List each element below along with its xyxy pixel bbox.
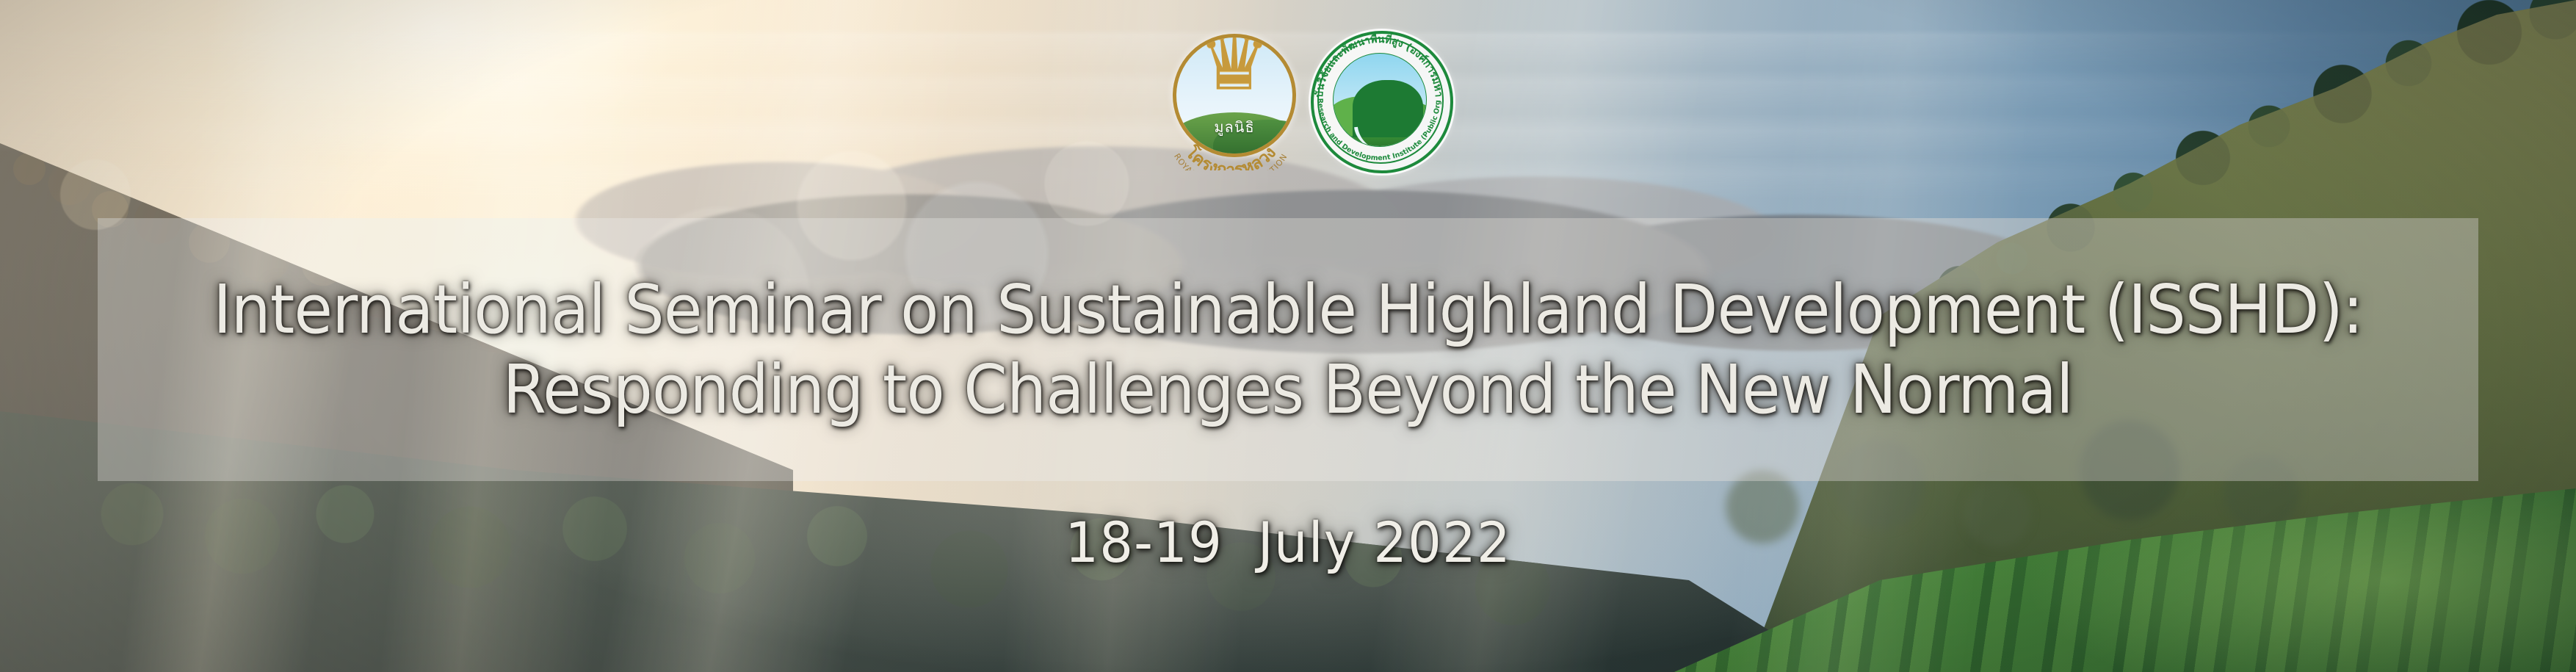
hrdi-logo-icon: สถาบันวิจัยและพัฒนาพื้นที่สูง (องค์การมห… — [1311, 31, 1447, 167]
thai-crown-icon: ♛ — [1176, 34, 1292, 102]
title-block: International Seminar on Sustainable Hig… — [98, 218, 2478, 481]
royal-project-center-thai-text: มูลนิธิ — [1176, 115, 1292, 139]
hrdi-scene-disc — [1333, 53, 1427, 147]
royal-project-disc: ♛ มูลนิธิ — [1173, 34, 1296, 157]
event-date: 18-19 July 2022 — [65, 510, 2512, 575]
seminar-title-line-1: International Seminar on Sustainable Hig… — [213, 272, 2363, 347]
royal-project-foundation-logo-icon: ♛ มูลนิธิ โครงการหลวง ROYAL PROJECT FOUN… — [1161, 31, 1300, 170]
seminar-title-line-2: Responding to Challenges Beyond the New … — [503, 352, 2073, 427]
logo-group: ♛ มูลนิธิ โครงการหลวง ROYAL PROJECT FOUN… — [1161, 31, 1447, 170]
event-banner: ♛ มูลนิธิ โครงการหลวง ROYAL PROJECT FOUN… — [0, 0, 2576, 672]
